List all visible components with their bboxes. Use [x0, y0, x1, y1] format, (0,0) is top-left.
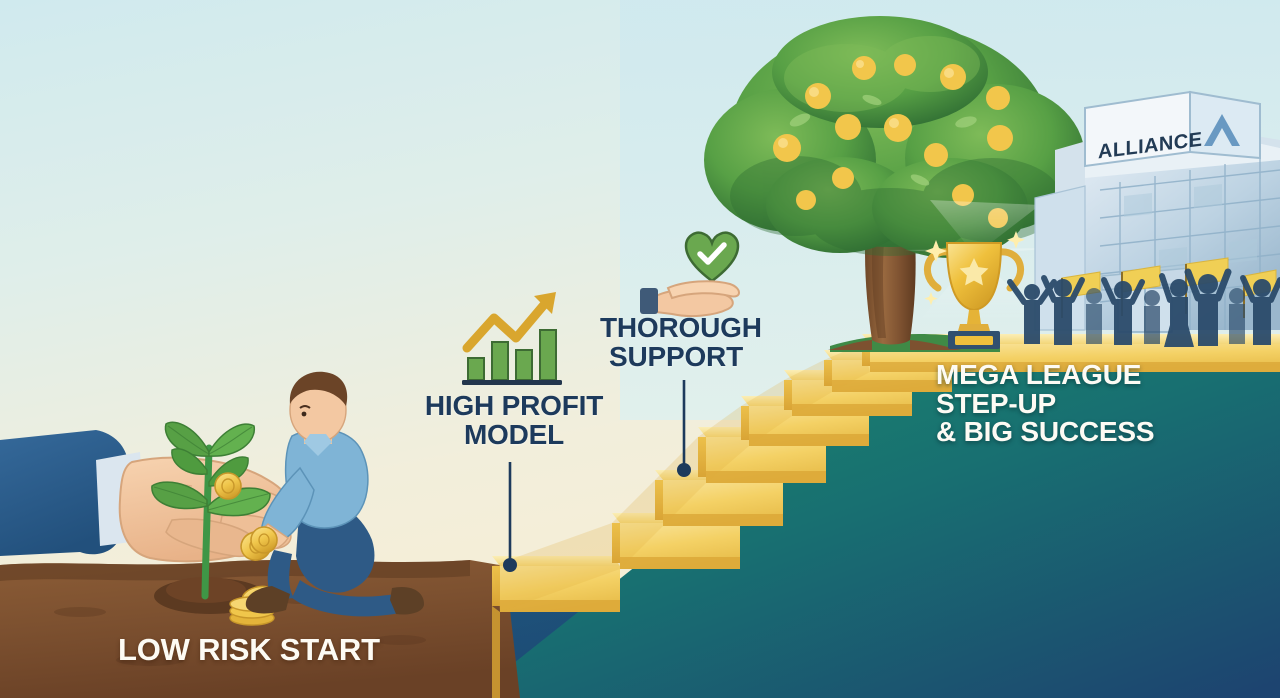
infographic-canvas: LOW RISK START HIGH PROFIT MODEL THOROUG…: [0, 0, 1280, 698]
scene-artwork: [0, 0, 1280, 698]
